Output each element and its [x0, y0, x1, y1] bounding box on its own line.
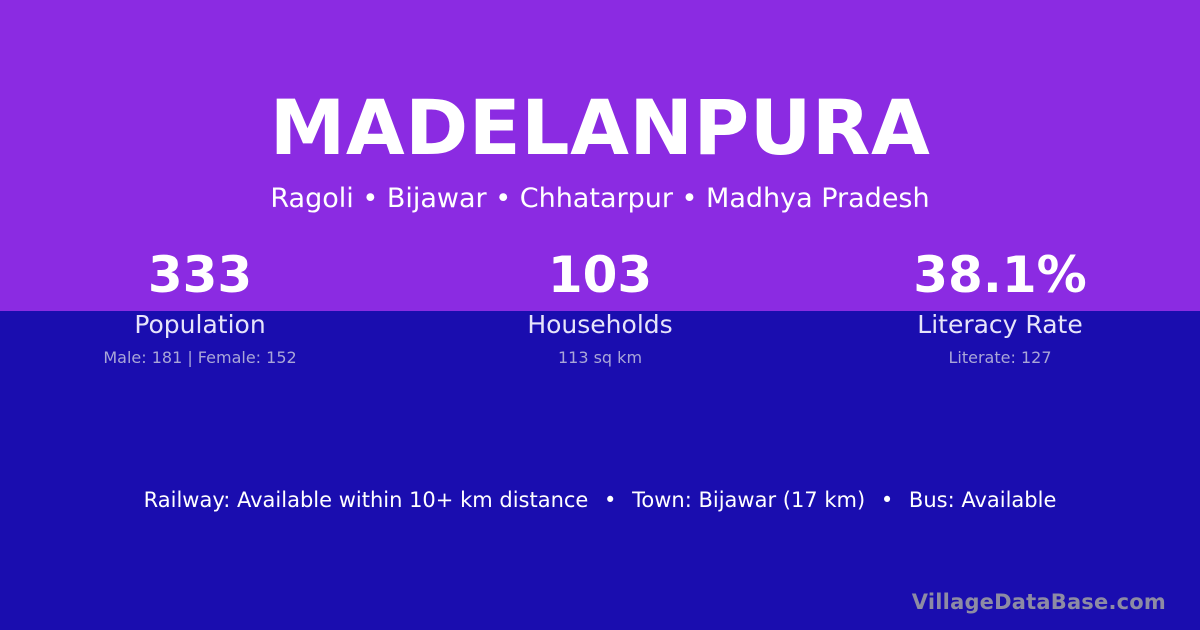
stat-population-label: Population — [0, 310, 400, 340]
breadcrumb: Ragoli • Bijawar • Chhatarpur • Madhya P… — [0, 180, 1200, 218]
village-info-card: MADELANPURA Ragoli • Bijawar • Chhatarpu… — [0, 0, 1200, 630]
site-watermark: VillageDataBase.com — [912, 588, 1166, 616]
stat-literacy-rate: 38.1% Literacy Rate Literate: 127 — [800, 246, 1200, 368]
stat-literacy-rate-value: 38.1% — [800, 246, 1200, 304]
facility-bus: Bus: Available — [909, 485, 1056, 515]
page-title: MADELANPURA — [0, 82, 1200, 174]
stat-households-label: Households — [400, 310, 800, 340]
stat-literacy-rate-sublabel: Literate: 127 — [800, 348, 1200, 368]
stat-households-value: 103 — [400, 246, 800, 304]
stat-population-sublabel: Male: 181 | Female: 152 — [0, 348, 400, 368]
stat-population: 333 Population Male: 181 | Female: 152 — [0, 246, 400, 368]
facilities-line: Railway: Available within 10+ km distanc… — [0, 485, 1200, 515]
facility-separator-1: • — [595, 485, 625, 515]
facility-railway: Railway: Available within 10+ km distanc… — [144, 485, 589, 515]
stat-literacy-rate-label: Literacy Rate — [800, 310, 1200, 340]
stat-households-sublabel: 113 sq km — [400, 348, 800, 368]
stat-population-value: 333 — [0, 246, 400, 304]
stats-row: 333 Population Male: 181 | Female: 152 1… — [0, 246, 1200, 368]
stat-households: 103 Households 113 sq km — [400, 246, 800, 368]
facility-separator-2: • — [872, 485, 902, 515]
facility-town: Town: Bijawar (17 km) — [632, 485, 865, 515]
